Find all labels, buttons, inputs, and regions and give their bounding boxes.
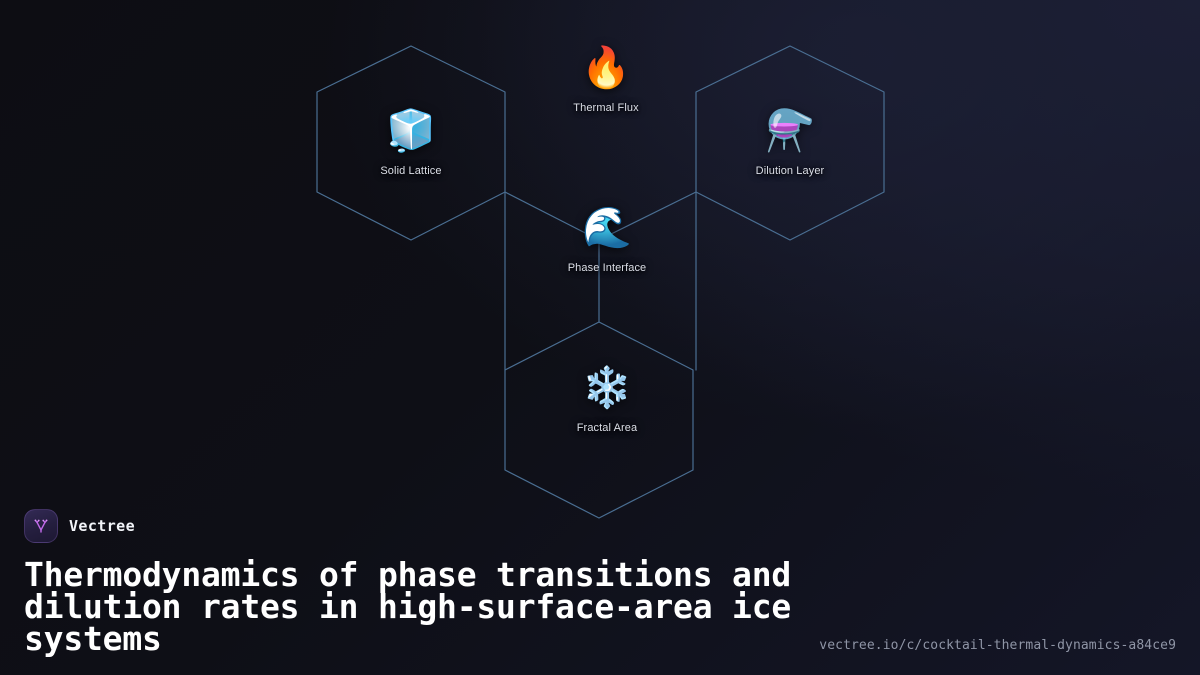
graph-node-thermal-flux[interactable]: 🔥 Thermal Flux [516,45,696,115]
graph-node-label: Solid Lattice [380,164,441,178]
graph-node-solid-lattice[interactable]: 🧊 Solid Lattice [321,108,501,178]
graph-node-label: Phase Interface [568,261,647,275]
snowflake-icon: ❄️ [582,365,632,411]
page-title: Thermodynamics of phase transitions and … [24,559,814,655]
vectree-logo-icon [24,509,58,543]
graph-node-label: Thermal Flux [573,101,638,115]
graph-node-label: Fractal Area [577,421,638,435]
wave-icon: 🌊 [582,205,632,251]
share-card: 🧊 Solid Lattice 🔥 Thermal Flux ⚗️ Diluti… [0,0,1200,675]
alembic-icon: ⚗️ [765,108,815,154]
ice-cube-icon: 🧊 [386,108,436,154]
brand-name: Vectree [69,517,135,535]
share-url: vectree.io/c/cocktail-thermal-dynamics-a… [819,638,1176,653]
fire-icon: 🔥 [581,45,631,91]
graph-node-fractal-area[interactable]: ❄️ Fractal Area [517,365,697,435]
graph-node-dilution-layer[interactable]: ⚗️ Dilution Layer [700,108,880,178]
brand-lockup[interactable]: Vectree [24,509,1176,543]
graph-node-label: Dilution Layer [756,164,825,178]
graph-node-phase-interface[interactable]: 🌊 Phase Interface [517,205,697,275]
